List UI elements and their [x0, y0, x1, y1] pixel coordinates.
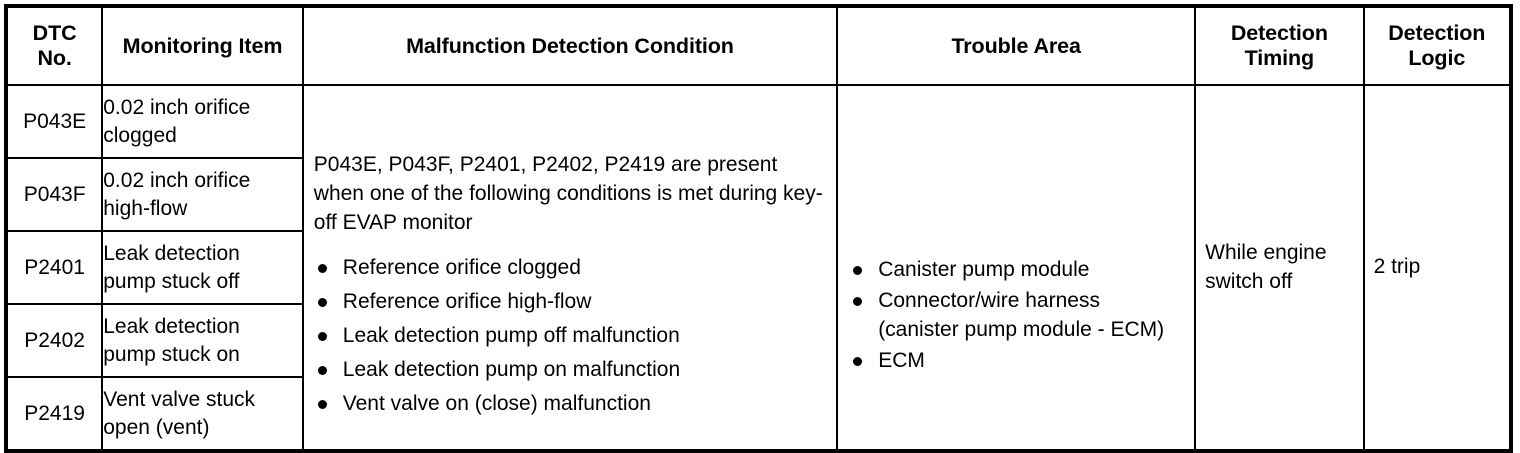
bullet-dot-icon: [853, 357, 862, 366]
condition-content: P043E, P043F, P2401, P2402, P2419 are pr…: [304, 117, 836, 419]
header-detection-logic-line-1: Detection: [1365, 21, 1509, 46]
dtc-table-sheet: DTC No. Monitoring Item Malfunction Dete…: [0, 0, 1520, 448]
list-item: Reference orifice high-flow: [314, 288, 826, 316]
monitoring-item-line-1: 0.02 inch orifice: [103, 94, 302, 122]
header-dtc-no: DTC No.: [6, 6, 102, 85]
bullet-dot-icon: [318, 332, 327, 341]
trouble-area-bullet-text: Canister pump module: [878, 258, 1089, 281]
condition-bullet-text: Reference orifice high-flow: [343, 290, 592, 313]
monitoring-item-cell: 0.02 inch orifice clogged: [102, 85, 303, 158]
monitoring-item-line-1: Leak detection: [103, 240, 302, 268]
bullet-dot-icon: [318, 264, 327, 273]
monitoring-item-cell: 0.02 inch orifice high-flow: [102, 158, 303, 231]
header-detection-logic-line-2: Logic: [1365, 46, 1509, 71]
header-detection-timing-line-1: Detection: [1196, 21, 1362, 46]
header-monitoring-item: Monitoring Item: [102, 6, 303, 85]
table-header: DTC No. Monitoring Item Malfunction Dete…: [6, 6, 1511, 85]
condition-bullet-text: Leak detection pump off malfunction: [343, 324, 680, 347]
trouble-area-bullet-list: Canister pump module Connector/wire harn…: [850, 256, 1184, 375]
header-malfunction-detection-condition: Malfunction Detection Condition: [303, 6, 837, 85]
detection-timing-content: While engine switch off: [1196, 239, 1362, 296]
trouble-area-bullet-text: ECM: [878, 349, 925, 372]
monitoring-item-line-2: high-flow: [103, 195, 302, 223]
monitoring-item-line-2: open (vent): [103, 414, 302, 442]
condition-bullet-text: Leak detection pump on malfunction: [343, 358, 680, 381]
list-item: Canister pump module: [850, 256, 1184, 284]
dtc-diagnostic-table: DTC No. Monitoring Item Malfunction Dete…: [4, 4, 1513, 453]
header-malfunction-detection-condition-line-1: Malfunction Detection Condition: [304, 34, 836, 59]
table-row: P043E 0.02 inch orifice clogged P043E, P…: [6, 85, 1511, 158]
list-item: Leak detection pump on malfunction: [314, 356, 826, 384]
list-item: ECM: [850, 347, 1184, 375]
monitoring-item-cell: Leak detection pump stuck on: [102, 304, 303, 377]
monitoring-item-line-2: pump stuck off: [103, 268, 302, 296]
monitoring-item-cell: Vent valve stuck open (vent): [102, 377, 303, 451]
detection-timing-cell: While engine switch off: [1195, 85, 1363, 451]
header-detection-timing: Detection Timing: [1195, 6, 1363, 85]
bullet-dot-icon: [853, 266, 862, 275]
header-detection-timing-line-2: Timing: [1196, 46, 1362, 71]
monitoring-item-line-1: 0.02 inch orifice: [103, 167, 302, 195]
detection-logic-content: 2 trip: [1365, 253, 1509, 281]
trouble-area-content: Canister pump module Connector/wire harn…: [838, 157, 1194, 375]
dtc-code-cell: P2419: [6, 377, 102, 451]
dtc-code-cell: P043E: [6, 85, 102, 158]
dtc-code-cell: P043F: [6, 158, 102, 231]
malfunction-detection-condition-cell: P043E, P043F, P2401, P2402, P2419 are pr…: [303, 85, 837, 451]
table-body: P043E 0.02 inch orifice clogged P043E, P…: [6, 85, 1511, 451]
monitoring-item-cell: Leak detection pump stuck off: [102, 231, 303, 304]
header-trouble-area: Trouble Area: [837, 6, 1195, 85]
detection-timing-line-1: While engine: [1205, 239, 1354, 267]
list-item: Connector/wire harness (canister pump mo…: [850, 287, 1184, 343]
monitoring-item-line-1: Leak detection: [103, 313, 302, 341]
trouble-area-cell: Canister pump module Connector/wire harn…: [837, 85, 1195, 451]
condition-bullet-text: Reference orifice clogged: [343, 256, 581, 279]
dtc-code-cell: P2401: [6, 231, 102, 304]
monitoring-item-line-1: Vent valve stuck: [103, 386, 302, 414]
trouble-area-bullet-text: Connector/wire harness (canister pump mo…: [878, 289, 1164, 340]
list-item: Vent valve on (close) malfunction: [314, 390, 826, 418]
header-dtc-no-line-2: No.: [8, 46, 101, 71]
condition-intro-text: P043E, P043F, P2401, P2402, P2419 are pr…: [314, 151, 826, 238]
bullet-dot-icon: [318, 400, 327, 409]
header-dtc-no-line-1: DTC: [8, 21, 101, 46]
header-detection-logic: Detection Logic: [1364, 6, 1511, 85]
detection-logic-cell: 2 trip: [1364, 85, 1511, 451]
header-row: DTC No. Monitoring Item Malfunction Dete…: [6, 6, 1511, 85]
condition-bullet-list: Reference orifice clogged Reference orif…: [314, 254, 826, 419]
header-monitoring-item-line-1: Monitoring Item: [103, 34, 302, 59]
list-item: Leak detection pump off malfunction: [314, 322, 826, 350]
bullet-dot-icon: [853, 297, 862, 306]
monitoring-item-line-2: clogged: [103, 122, 302, 150]
bullet-dot-icon: [318, 298, 327, 307]
monitoring-item-line-2: pump stuck on: [103, 341, 302, 369]
condition-bullet-text: Vent valve on (close) malfunction: [343, 392, 651, 415]
bullet-dot-icon: [318, 366, 327, 375]
list-item: Reference orifice clogged: [314, 254, 826, 282]
detection-timing-line-2: switch off: [1205, 268, 1354, 296]
header-trouble-area-line-1: Trouble Area: [838, 34, 1194, 59]
dtc-code-cell: P2402: [6, 304, 102, 377]
